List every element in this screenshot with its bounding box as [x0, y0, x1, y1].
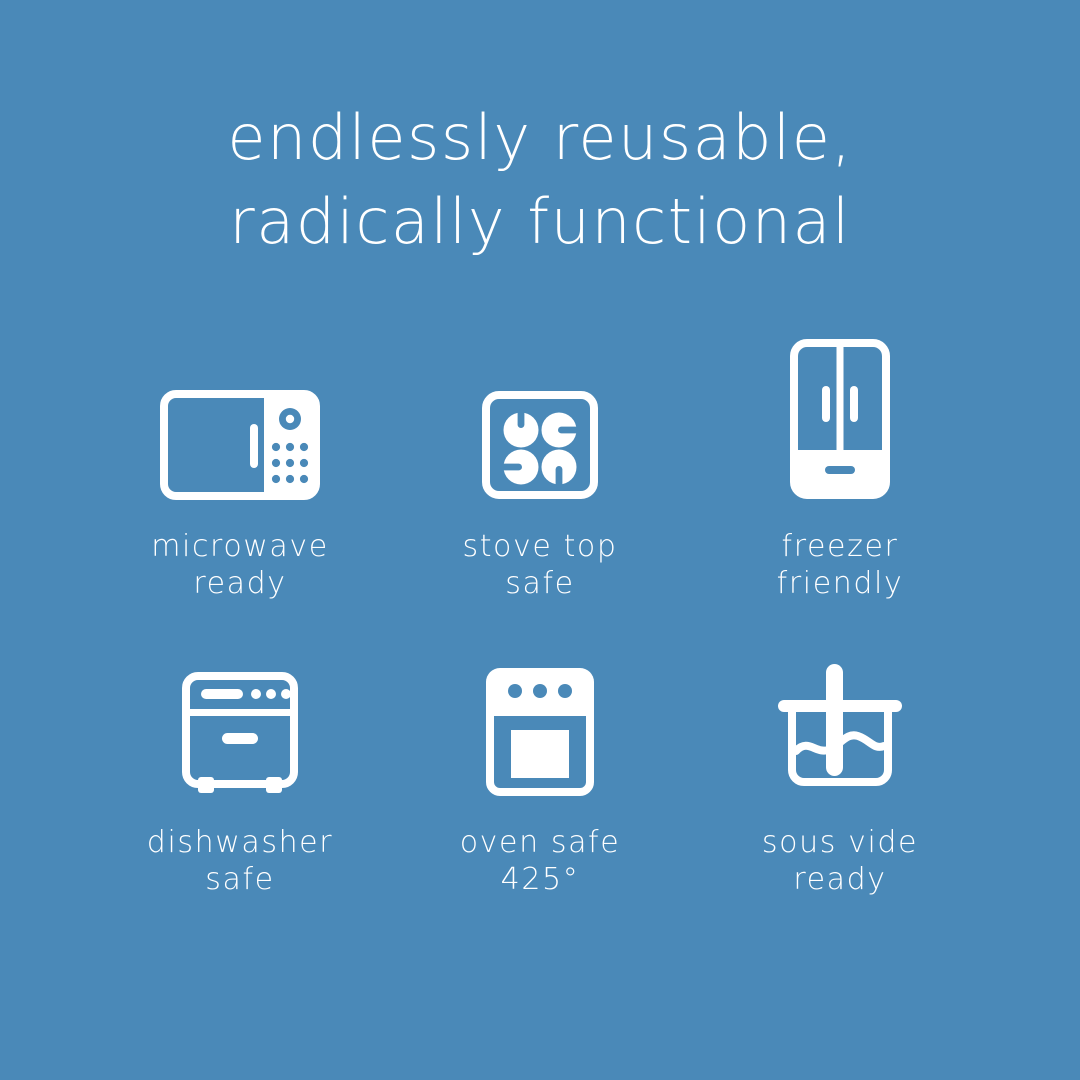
feature-item-oven: oven safe 425°: [390, 626, 690, 922]
dishwasher-icon-wrap: [181, 626, 299, 796]
freezer-icon-cell: freezer friendly: [690, 330, 990, 626]
oven-icon-wrap: [486, 626, 594, 796]
oven-icon: [486, 668, 594, 796]
feature-item-sous-vide: sous vide ready: [690, 626, 990, 922]
feature-item-microwave: microwave ready: [90, 330, 390, 626]
headline-line-2: radically functional: [0, 180, 1080, 264]
microwave-icon-wrap: [160, 330, 320, 500]
feature-item-dishwasher: dishwasher safe: [90, 626, 390, 922]
stove-top-icon-wrap: [481, 330, 599, 500]
feature-label-sous-vide: sous vide ready: [762, 824, 918, 898]
stove-top-icon: [481, 390, 599, 500]
feature-grid: microwave ready: [90, 330, 990, 922]
feature-poster: endlessly reusable, radically functional: [0, 0, 1080, 1080]
feature-label-microwave: microwave ready: [151, 528, 329, 602]
feature-item-stove-top: stove top safe: [390, 330, 690, 626]
feature-label-freezer: freezer friendly: [777, 528, 904, 602]
freezer-icon: [789, 338, 891, 500]
sous-vide-icon: [770, 658, 910, 796]
dishwasher-icon: [181, 671, 299, 796]
microwave-icon: [160, 390, 320, 500]
feature-label-dishwasher: dishwasher safe: [147, 824, 333, 898]
sous-vide-icon-wrap: [770, 626, 910, 796]
feature-label-oven: oven safe 425°: [460, 824, 621, 898]
freezer-icon-wrap: [789, 330, 891, 500]
headline-line-1: endlessly reusable,: [0, 96, 1080, 180]
page-title: endlessly reusable, radically functional: [0, 96, 1080, 264]
feature-label-stove-top: stove top safe: [462, 528, 617, 602]
